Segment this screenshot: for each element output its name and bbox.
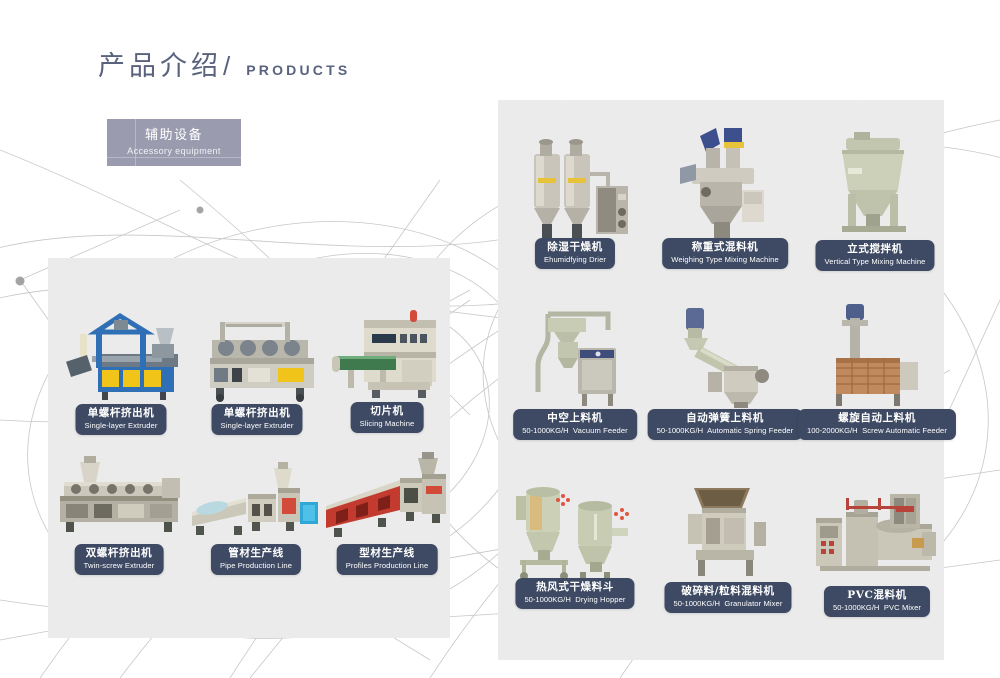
product-name-cn: 螺旋自动上料机 (807, 412, 947, 425)
product-name-en: Ehumidfying Drier (544, 255, 606, 265)
product-cell[interactable]: 螺旋自动上料机 100-2000KG/H Screw Automatic Fee… (812, 296, 942, 438)
dehumidifying-drier-icon (512, 126, 638, 241)
product-cell[interactable]: 型材生产线 Profiles Production Line (322, 452, 452, 582)
product-name-cn: 切片机 (360, 405, 415, 418)
product-label[interactable]: 单螺杆挤出机 Single-layer Extruder (211, 404, 302, 435)
product-name-cn: 称重式混料机 (671, 241, 779, 254)
product-cell[interactable]: 单螺杆挤出机 Single-layer Extruder (192, 300, 322, 440)
slicing-machine-icon (324, 298, 450, 408)
product-label[interactable]: PVC混料机 50-1000KG/H PVC Mixer (824, 586, 930, 617)
product-label[interactable]: 中空上料机 50-1000KG/H Vacuum Feeder (513, 409, 637, 440)
product-name-en-text: Vacuum Feeder (573, 426, 628, 435)
badge-gridline-v (135, 119, 136, 166)
product-name-en: 100-2000KG/H Screw Automatic Feeder (807, 426, 947, 436)
product-label[interactable]: 破碎料/粒料混料机 50-1000KG/H Granulator Mixer (664, 582, 791, 613)
twin-screw-extruder-icon (52, 452, 186, 548)
product-label[interactable]: 立式搅拌机 Vertical Type Mixing Machine (815, 240, 934, 271)
product-cell[interactable]: 管材生产线 Pipe Production Line (188, 452, 324, 582)
product-label[interactable]: 螺旋自动上料机 100-2000KG/H Screw Automatic Fee… (798, 409, 956, 440)
product-label[interactable]: 型材生产线 Profiles Production Line (337, 544, 438, 575)
product-name-en: 50-1000KG/H Drying Hopper (524, 595, 625, 605)
product-label[interactable]: 双螺杆挤出机 Twin-screw Extruder (75, 544, 164, 575)
product-name-en: Weighing Type Mixing Machine (671, 255, 779, 265)
product-name-en: Single-layer Extruder (84, 421, 157, 431)
screw-feeder-icon (812, 296, 942, 412)
product-name-en: Single-layer Extruder (220, 421, 293, 431)
product-name-en-text: Drying Hopper (575, 595, 625, 604)
product-capacity: 50-1000KG/H (522, 426, 568, 435)
product-catalog-page: 产品介绍 / PRODUCTS 辅助设备 Accessory equipment (0, 0, 1000, 678)
product-name-en-text: Granulator Mixer (724, 599, 782, 608)
product-name-en-text: Automatic Spring Feeder (707, 426, 793, 435)
product-label[interactable]: 单螺杆挤出机 Single-layer Extruder (75, 404, 166, 435)
product-cell[interactable]: 立式搅拌机 Vertical Type Mixing Machine (812, 128, 938, 266)
product-capacity: 50-1000KG/H (524, 595, 570, 604)
page-title-cn: 产品介绍 (98, 44, 222, 83)
product-cell[interactable]: 双螺杆挤出机 Twin-screw Extruder (52, 452, 186, 582)
category-badge-cn: 辅助设备 (145, 128, 203, 143)
product-name-cn: 单螺杆挤出机 (220, 407, 293, 420)
badge-gridline-h (107, 157, 241, 158)
product-name-cn: 破碎料/粒料混料机 (673, 585, 782, 598)
product-name-en: Profiles Production Line (346, 561, 429, 571)
product-name-en: 50-1000KG/H Automatic Spring Feeder (657, 426, 794, 436)
product-cell[interactable]: 破碎料/粒料混料机 50-1000KG/H Granulator Mixer (668, 474, 788, 610)
product-name-en: Slicing Machine (360, 419, 415, 429)
product-name-en: 50-1000KG/H Vacuum Feeder (522, 426, 628, 436)
product-label[interactable]: 自动弹簧上料机 50-1000KG/H Automatic Spring Fee… (648, 409, 803, 440)
product-cell[interactable]: 切片机 Slicing Machine (324, 298, 450, 440)
product-name-cn: 立式搅拌机 (824, 243, 925, 256)
product-cell[interactable]: 热风式干燥料斗 50-1000KG/H Drying Hopper (512, 470, 638, 610)
product-name-cn: 自动弹簧上料机 (657, 412, 794, 425)
product-capacity: 50-1000KG/H (833, 603, 879, 612)
product-label[interactable]: 切片机 Slicing Machine (351, 402, 424, 433)
product-name-cn: 管材生产线 (220, 547, 292, 560)
product-name-en: Pipe Production Line (220, 561, 292, 571)
product-capacity: 50-1000KG/H (657, 426, 703, 435)
product-name-cn: 单螺杆挤出机 (84, 407, 157, 420)
category-badge-accessory-equipment[interactable]: 辅助设备 Accessory equipment (107, 119, 241, 166)
product-name-en-text: Screw Automatic Feeder (862, 426, 947, 435)
product-cell[interactable]: PVC混料机 50-1000KG/H PVC Mixer (812, 478, 942, 610)
product-name-en: 50-1000KG/H Granulator Mixer (673, 599, 782, 609)
pvc-mixer-icon (812, 478, 942, 580)
product-cell[interactable]: 称重式混料机 Weighing Type Mixing Machine (662, 118, 788, 266)
page-title: 产品介绍 / PRODUCTS (98, 44, 350, 83)
spring-feeder-icon (662, 296, 788, 412)
product-name-cn: 热风式干燥料斗 (524, 581, 625, 594)
product-name-en: Twin-screw Extruder (84, 561, 155, 571)
product-name-en: Vertical Type Mixing Machine (824, 257, 925, 267)
vacuum-feeder-icon (512, 296, 638, 412)
product-capacity: 100-2000KG/H (807, 426, 858, 435)
weighing-mixer-icon (662, 118, 788, 240)
product-label[interactable]: 称重式混料机 Weighing Type Mixing Machine (662, 238, 788, 269)
drying-hopper-icon (512, 470, 638, 582)
product-name-cn: 中空上料机 (522, 412, 628, 425)
product-capacity: 50-1000KG/H (673, 599, 719, 608)
single-layer-extruder-gray-icon (192, 300, 322, 410)
product-name-cn: PVC混料机 (833, 589, 921, 602)
product-name-cn: 除湿干燥机 (544, 241, 606, 254)
title-separator: / (223, 51, 230, 82)
product-name-cn: 双螺杆挤出机 (84, 547, 155, 560)
product-cell[interactable]: 单螺杆挤出机 Single-layer Extruder (56, 300, 186, 440)
granulator-mixer-icon (668, 474, 788, 580)
product-label[interactable]: 除湿干燥机 Ehumidfying Drier (535, 238, 615, 269)
pipe-production-line-icon (188, 452, 324, 548)
profiles-production-line-icon (322, 452, 452, 548)
category-badge-en: Accessory equipment (127, 145, 221, 158)
product-name-en: 50-1000KG/H PVC Mixer (833, 603, 921, 613)
product-cell[interactable]: 除湿干燥机 Ehumidfying Drier (512, 126, 638, 266)
vertical-mixer-icon (812, 128, 938, 240)
product-cell[interactable]: 中空上料机 50-1000KG/H Vacuum Feeder (512, 296, 638, 438)
product-name-cn: 型材生产线 (346, 547, 429, 560)
product-cell[interactable]: 自动弹簧上料机 50-1000KG/H Automatic Spring Fee… (662, 296, 788, 438)
product-label[interactable]: 管材生产线 Pipe Production Line (211, 544, 301, 575)
single-layer-extruder-blue-icon (56, 300, 186, 410)
page-title-en: PRODUCTS (246, 62, 350, 78)
product-label[interactable]: 热风式干燥料斗 50-1000KG/H Drying Hopper (515, 578, 634, 609)
product-name-en-text: PVC Mixer (884, 603, 921, 612)
